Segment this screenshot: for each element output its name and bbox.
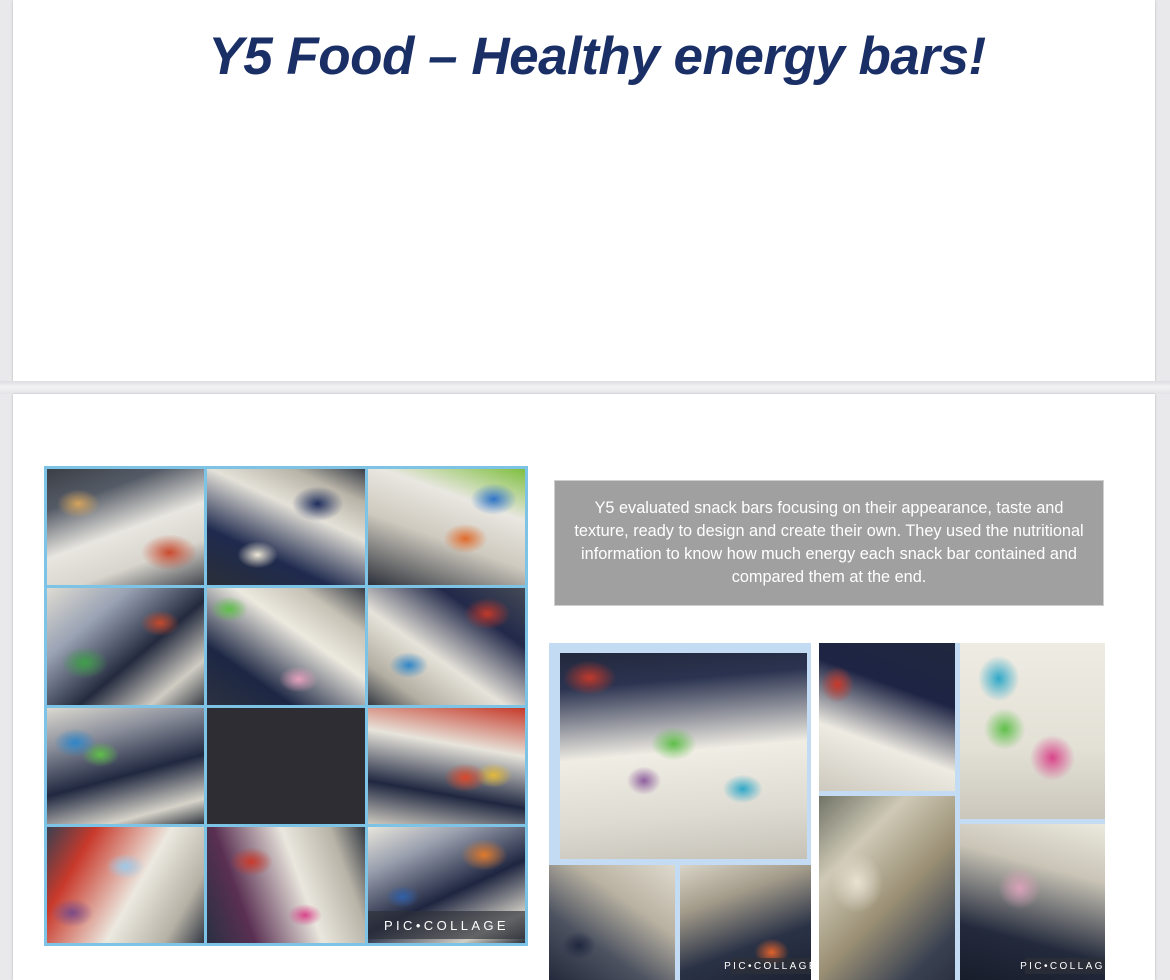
collage-photo[interactable] [960,643,1105,819]
collage-photo[interactable] [47,708,204,824]
collage-photo[interactable] [47,469,204,585]
collage-photo[interactable] [207,469,364,585]
pic-collage-watermark: PIC•COLLAGE [368,911,525,939]
collage-photo[interactable] [47,827,204,943]
page-divider [0,381,1170,394]
page-title: Y5 Food – Healthy energy bars! [26,26,1168,87]
collage-photo[interactable] [960,824,1105,980]
photo-collage-right-a[interactable]: PIC•COLLAGE [549,643,811,980]
document-page-1: Y5 Food – Healthy energy bars! [13,0,1155,381]
collage-photo[interactable] [368,708,525,824]
photo-collage-right-b[interactable]: PIC•COLLAGE [819,643,1105,980]
collage-photo[interactable] [368,588,525,704]
collage-photo[interactable] [819,796,955,980]
collage-photo[interactable] [819,643,955,791]
pic-collage-watermark: PIC•COLLAGE [731,958,811,974]
collage-photo[interactable] [207,827,364,943]
caption-text: Y5 evaluated snack bars focusing on thei… [555,497,1103,589]
collage-photo[interactable] [560,653,807,859]
collage-photo[interactable] [207,588,364,704]
collage-photo[interactable] [549,865,675,980]
collage-photo[interactable] [368,469,525,585]
caption-box: Y5 evaluated snack bars focusing on thei… [554,480,1104,606]
pic-collage-watermark: PIC•COLLAGE [1025,958,1105,974]
photo-collage-left[interactable] [44,466,528,946]
collage-photo[interactable] [47,588,204,704]
collage-photo[interactable] [207,708,364,824]
